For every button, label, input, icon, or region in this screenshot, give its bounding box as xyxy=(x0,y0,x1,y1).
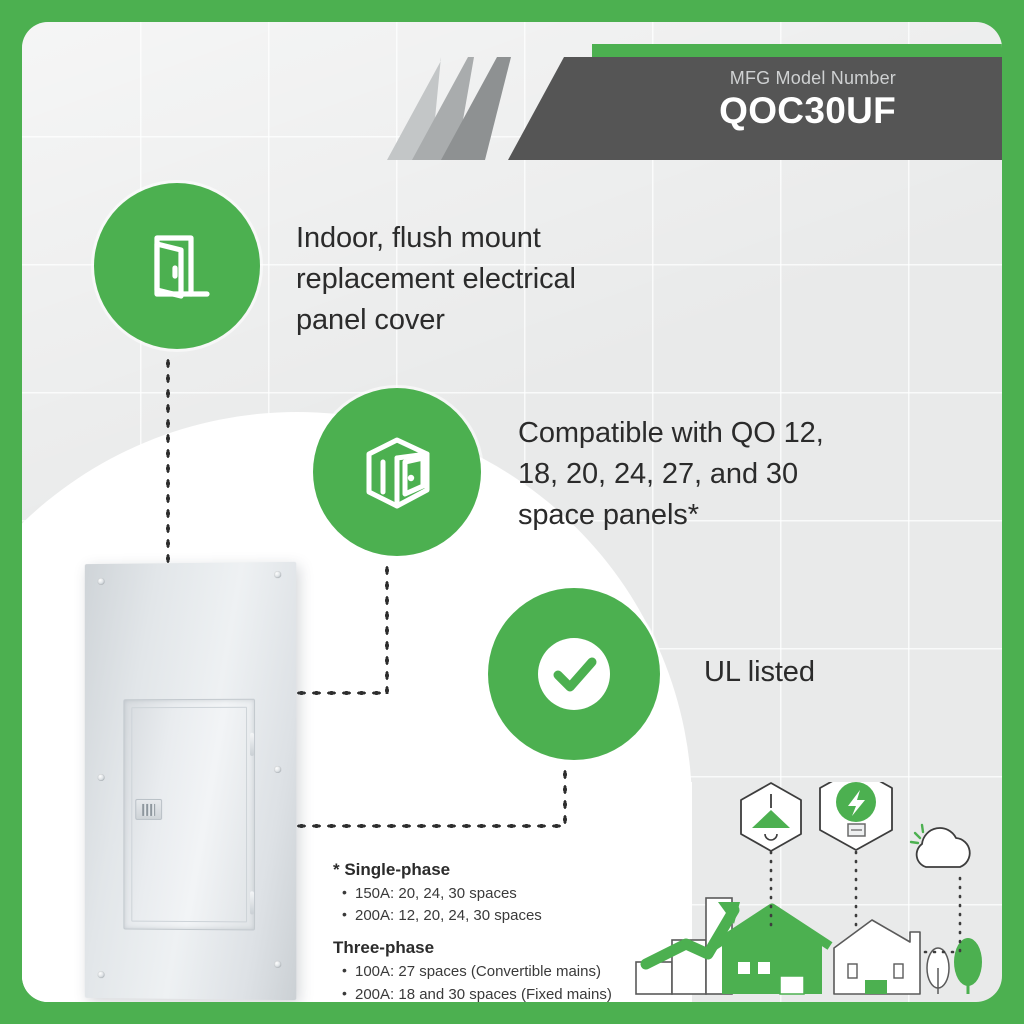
checkmark-icon xyxy=(522,622,626,726)
banner-slant-edge xyxy=(508,57,592,160)
screw-hole xyxy=(98,578,105,585)
banner-model-number: QOC30UF xyxy=(719,90,896,132)
footnote-item: 100A: 27 spaces (Convertible mains) xyxy=(333,961,653,983)
footnote-single-phase-heading: * Single-phase xyxy=(333,860,653,880)
white-house xyxy=(834,920,920,994)
connector-panel-horizontal xyxy=(294,690,388,696)
smart-home-scene-svg xyxy=(622,782,1002,1002)
cloud-icon xyxy=(911,825,970,867)
open-door-icon xyxy=(131,220,223,312)
feature-text-ul-listed: UL listed xyxy=(704,652,964,693)
feature-icon-circle-panel xyxy=(313,388,481,556)
panel-door-latch xyxy=(135,799,162,820)
footnote-item: 200A: 18 and 30 spaces (Fixed mains) xyxy=(333,984,653,1002)
infographic-root: MFG Model Number QOC30UF Indoor, flush m… xyxy=(0,0,1024,1024)
footnote-three-phase-heading: Three-phase xyxy=(333,938,653,958)
trees-group xyxy=(927,938,982,994)
screw-hole xyxy=(274,571,281,578)
connector-check-horizontal xyxy=(294,823,566,829)
feature-icon-circle-check xyxy=(488,588,660,760)
screw-hole xyxy=(98,971,105,978)
connector-check-vertical xyxy=(562,767,568,827)
footnote-single-phase-list: 150A: 20, 24, 30 spaces 200A: 12, 20, 24… xyxy=(333,883,653,927)
banner-green-strip xyxy=(592,44,1002,57)
banner-label: MFG Model Number xyxy=(730,68,896,89)
footnote-item: 200A: 12, 20, 24, 30 spaces xyxy=(333,905,653,927)
panel-box-icon xyxy=(349,424,445,520)
lamp-hexagon-badge xyxy=(741,783,801,851)
smart-home-energy-scene xyxy=(622,782,1002,1002)
model-banner: MFG Model Number QOC30UF xyxy=(22,22,1002,182)
feature-icon-circle-door xyxy=(94,183,260,349)
feature-text-panel: Compatible with QO 12, 18, 20, 24, 27, a… xyxy=(518,413,868,537)
panel-door-hinge xyxy=(250,891,254,914)
panel-door-hinge xyxy=(250,733,254,756)
electrical-panel-cover-photo xyxy=(85,562,296,1000)
screw-hole xyxy=(274,961,281,968)
footnote-three-phase-list: 100A: 27 spaces (Convertible mains) 200A… xyxy=(333,961,653,1002)
footnote-item: 150A: 20, 24, 30 spaces xyxy=(333,883,653,905)
connector-door-vertical xyxy=(165,356,171,572)
screw-hole xyxy=(98,774,105,781)
feature-text-door: Indoor, flush mount replacement electric… xyxy=(296,218,636,342)
footnote-block: * Single-phase 150A: 20, 24, 30 spaces 2… xyxy=(333,860,653,1002)
screw-hole xyxy=(274,766,281,773)
content-canvas: MFG Model Number QOC30UF Indoor, flush m… xyxy=(22,22,1002,1002)
bolt-hexagon-badge xyxy=(820,782,892,850)
connector-panel-vertical xyxy=(384,563,390,694)
